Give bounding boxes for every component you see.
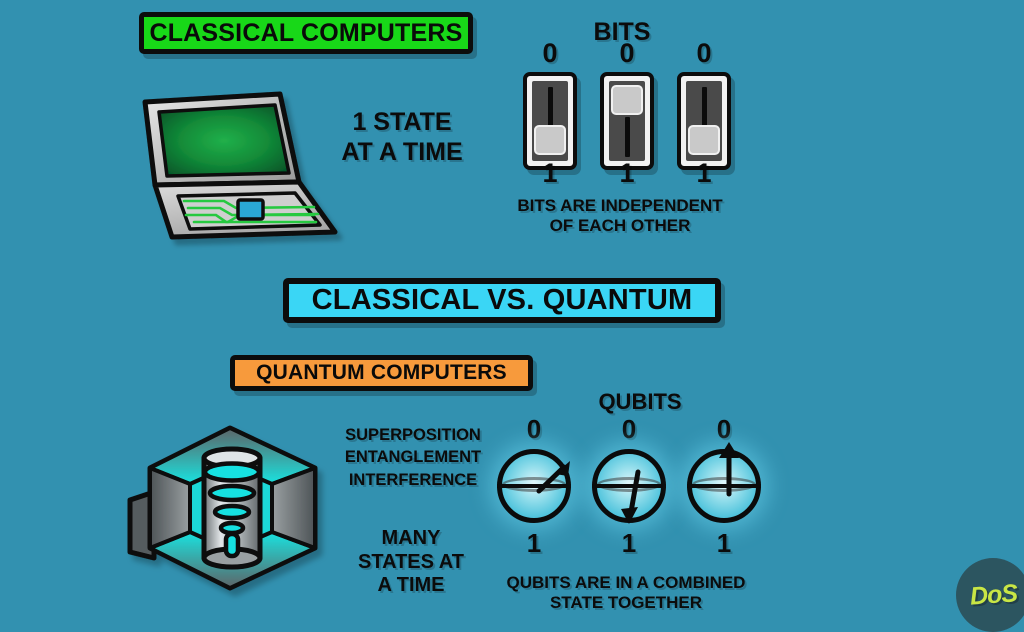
bit-bottom-label-2: 1 bbox=[600, 158, 654, 189]
quantum-computer-icon bbox=[112, 400, 342, 612]
qubit-bottom-label-1: 1 bbox=[497, 528, 571, 559]
bit-switch-knob-3[interactable] bbox=[688, 125, 720, 155]
dos-logo[interactable]: DoS bbox=[956, 558, 1024, 632]
classical-computers-badge-label: CLASSICAL COMPUTERS bbox=[149, 19, 462, 48]
classical-state-text: 1 STATE AT A TIME bbox=[322, 108, 482, 167]
bloch-sphere-2[interactable] bbox=[592, 449, 666, 523]
bloch-sphere-1[interactable] bbox=[497, 449, 571, 523]
bit-bottom-label-1: 1 bbox=[523, 158, 577, 189]
bit-top-label-3: 0 bbox=[677, 38, 731, 69]
bloch-arrow-2 bbox=[621, 472, 638, 524]
bloch-sphere-3[interactable] bbox=[687, 449, 761, 523]
quantum-computers-badge-label: QUANTUM COMPUTERS bbox=[256, 361, 507, 385]
bloch-arrow-3 bbox=[719, 442, 739, 494]
bit-switch-rod-1 bbox=[548, 87, 553, 127]
bit-switch-plate-3 bbox=[686, 81, 722, 161]
bit-switch-plate-1 bbox=[532, 81, 568, 161]
qubits-label: QUBITS bbox=[570, 389, 710, 415]
bit-switch-2[interactable] bbox=[600, 72, 654, 170]
dos-logo-text: DoS bbox=[969, 579, 1018, 611]
bit-switch-knob-2[interactable] bbox=[611, 85, 643, 115]
main-title-badge: CLASSICAL VS. QUANTUM bbox=[283, 278, 721, 323]
quantum-state-text: MANY STATES AT A TIME bbox=[348, 527, 474, 598]
qubits-note: QUBITS ARE IN A COMBINED STATE TOGETHER bbox=[470, 573, 782, 613]
qubit-top-label-2: 0 bbox=[592, 414, 666, 445]
bit-switch-rod-2 bbox=[625, 117, 630, 157]
qubit-top-label-3: 0 bbox=[687, 414, 761, 445]
bit-switch-plate-2 bbox=[609, 81, 645, 161]
classical-computers-badge: CLASSICAL COMPUTERS bbox=[139, 12, 473, 54]
bit-switch-knob-1[interactable] bbox=[534, 125, 566, 155]
quantum-computers-badge: QUANTUM COMPUTERS bbox=[230, 355, 533, 391]
bloch-arrow-1 bbox=[539, 461, 570, 491]
infographic-canvas: CLASSICAL COMPUTERS bbox=[0, 0, 1024, 628]
bit-switch-1[interactable] bbox=[523, 72, 577, 170]
qubit-bottom-label-2: 1 bbox=[592, 528, 666, 559]
quantum-principles-text: SUPERPOSITION ENTANGLEMENT INTERFERENCE bbox=[330, 424, 496, 491]
bit-bottom-label-3: 1 bbox=[677, 158, 731, 189]
bit-switch-rod-3 bbox=[702, 87, 707, 127]
qubit-top-label-1: 0 bbox=[497, 414, 571, 445]
page-title: CLASSICAL VS. QUANTUM bbox=[312, 284, 693, 317]
bits-note: BITS ARE INDEPENDENT OF EACH OTHER bbox=[480, 196, 760, 236]
bit-top-label-2: 0 bbox=[600, 38, 654, 69]
bit-switch-3[interactable] bbox=[677, 72, 731, 170]
bit-top-label-1: 0 bbox=[523, 38, 577, 69]
qubit-bottom-label-3: 1 bbox=[687, 528, 761, 559]
